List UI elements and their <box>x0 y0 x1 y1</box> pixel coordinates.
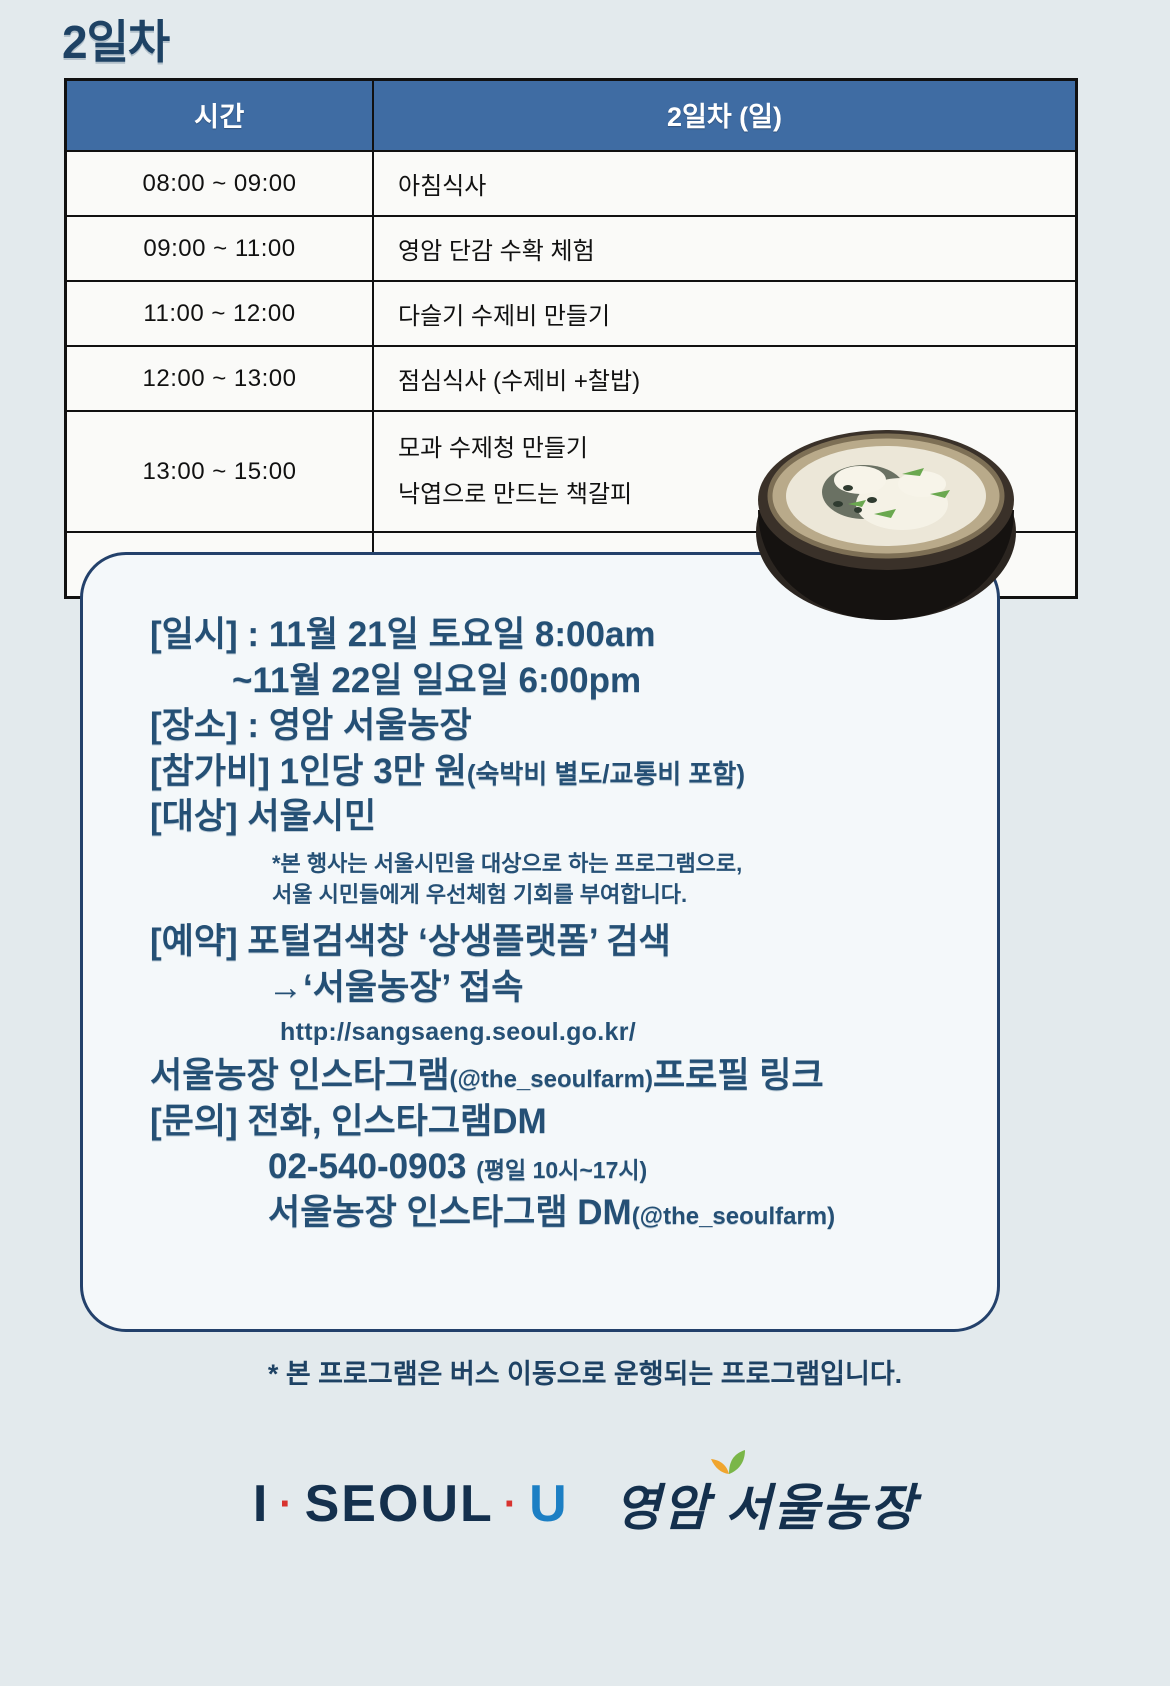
info-phone-number[interactable]: 02-540-0903 <box>268 1147 467 1186</box>
table-header-row: 시간 2일차 (일) <box>66 80 1077 152</box>
cell-activity-line1: 모과 수제청 만들기 <box>398 426 1075 472</box>
info-instagram-line: 서울농장 인스타그램(@the_seoulfarm)프로필 링크 <box>150 1053 966 1099</box>
table-row: 12:00 ~ 13:00 점심식사 (수제비 +찰밥) <box>66 346 1077 411</box>
info-instagram-handle[interactable]: (@the_seoulfarm) <box>450 1066 653 1093</box>
info-fee-main: [참가비] 1인당 3만 원 <box>150 752 467 791</box>
info-reservation-step2: →‘서울농장’ 접속 <box>150 965 966 1011</box>
column-header-day: 2일차 (일) <box>373 80 1077 152</box>
cell-time: 09:00 ~ 11:00 <box>66 216 374 281</box>
info-fee-note: (숙박비 별도/교통비 포함) <box>467 759 745 789</box>
logo-word-seoul: SEOUL <box>305 1474 494 1534</box>
info-dm-handle[interactable]: (@the_seoulfarm) <box>632 1203 835 1230</box>
info-content: [일시] : 11월 21일 토요일 8:00am ~11월 22일 일요일 6… <box>80 552 1000 1332</box>
bottom-note: * 본 프로그램은 버스 이동으로 운행되는 프로그램입니다. <box>0 1352 1170 1391</box>
logo-dot-right: · <box>504 1484 519 1524</box>
sprout-icon <box>707 1446 753 1476</box>
info-note-line1: *본 행사는 서울시민을 대상으로 하는 프로그램으로, <box>150 848 966 880</box>
info-dm-label: 서울농장 인스타그램 DM <box>268 1193 632 1232</box>
info-date-line2: ~11월 22일 일요일 6:00pm <box>150 658 966 704</box>
column-header-time: 시간 <box>66 80 374 152</box>
cell-time: 13:00 ~ 15:00 <box>66 411 374 532</box>
logo-letter-i: I <box>253 1474 269 1534</box>
page-title: 2일차 <box>62 6 169 72</box>
table-row: 09:00 ~ 11:00 영암 단감 수확 체험 <box>66 216 1077 281</box>
cell-time: 12:00 ~ 13:00 <box>66 346 374 411</box>
cell-time: 11:00 ~ 12:00 <box>66 281 374 346</box>
info-date-line1: [일시] : 11월 21일 토요일 8:00am <box>150 612 966 658</box>
info-place: [장소] : 영암 서울농장 <box>150 703 966 749</box>
info-contact: [문의] 전화, 인스타그램DM <box>150 1099 966 1145</box>
cell-activity: 영암 단감 수확 체험 <box>373 216 1077 281</box>
seoul-farm-logo-text: 영암 서울농장 <box>615 1480 918 1536</box>
info-dm-line: 서울농장 인스타그램 DM(@the_seoulfarm) <box>150 1190 966 1236</box>
info-fee: [참가비] 1인당 3만 원(숙박비 별도/교통비 포함) <box>150 749 966 795</box>
cell-activity: 점심식사 (수제비 +찰밥) <box>373 346 1077 411</box>
table-row: 11:00 ~ 12:00 다슬기 수제비 만들기 <box>66 281 1077 346</box>
cell-time: 08:00 ~ 09:00 <box>66 151 374 216</box>
info-phone-hours: (평일 10시~17시) <box>476 1157 647 1183</box>
schedule-table: 시간 2일차 (일) 08:00 ~ 09:00 아침식사 09:00 ~ 11… <box>64 78 1078 599</box>
info-target: [대상] 서울시민 <box>150 794 966 840</box>
info-note-line2: 서울 시민들에게 우선체험 기회를 부여합니다. <box>150 879 966 911</box>
logo-dot-left: · <box>279 1484 294 1524</box>
cell-activity: 모과 수제청 만들기 낙엽으로 만드는 책갈피 <box>373 411 1077 532</box>
cell-activity: 아침식사 <box>373 151 1077 216</box>
info-url[interactable]: http://sangsaeng.seoul.go.kr/ <box>150 1018 966 1047</box>
cell-activity-line2: 낙엽으로 만드는 책갈피 <box>398 472 1075 518</box>
logo-row: I · SEOUL · U 영암 서울농장 <box>0 1468 1170 1540</box>
seoul-farm-logo: 영암 서울농장 <box>615 1468 918 1540</box>
info-phone-line: 02-540-0903 (평일 10시~17시) <box>150 1144 966 1190</box>
info-reservation: [예약] 포털검색창 ‘상생플랫폼’ 검색 <box>150 919 966 965</box>
i-seoul-u-logo: I · SEOUL · U <box>253 1474 569 1534</box>
table-row: 13:00 ~ 15:00 모과 수제청 만들기 낙엽으로 만드는 책갈피 <box>66 411 1077 532</box>
cell-activity: 다슬기 수제비 만들기 <box>373 281 1077 346</box>
table-row: 08:00 ~ 09:00 아침식사 <box>66 151 1077 216</box>
logo-letter-u: U <box>529 1474 569 1534</box>
info-instagram-suffix: 프로필 링크 <box>653 1056 824 1095</box>
info-instagram-label: 서울농장 인스타그램 <box>150 1056 450 1095</box>
